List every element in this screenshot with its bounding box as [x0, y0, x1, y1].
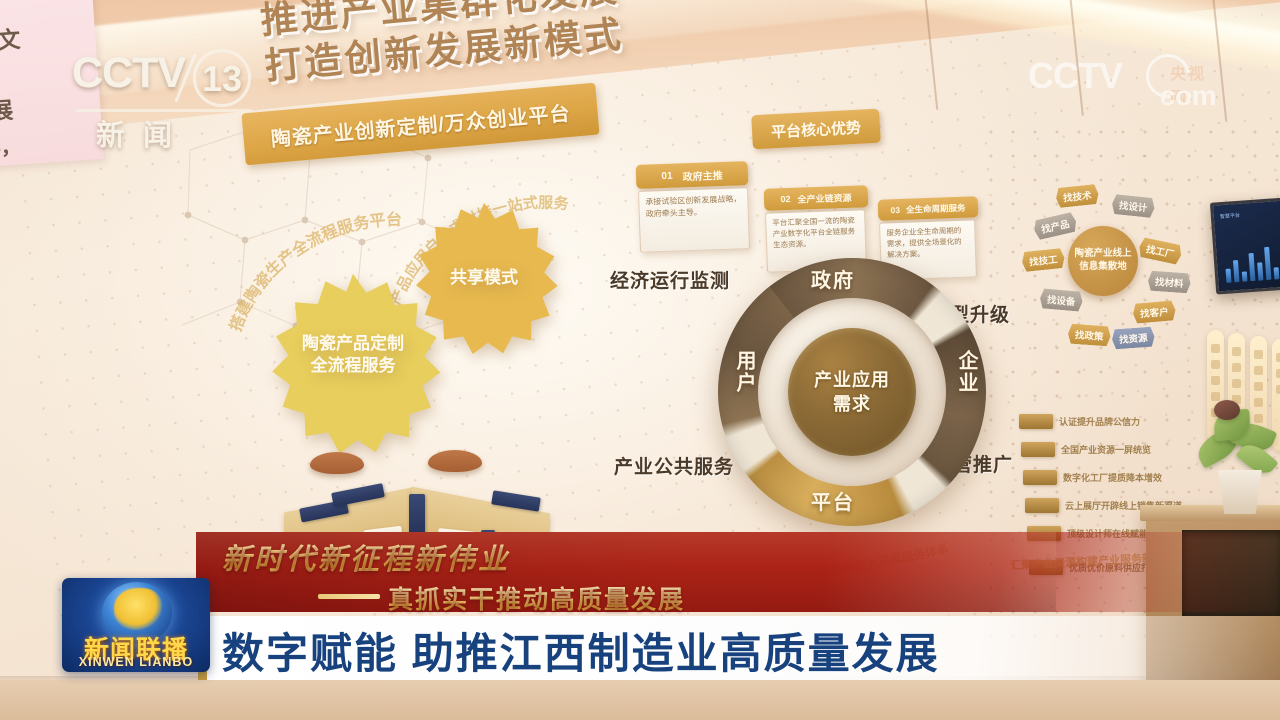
advantage-01-num: 01 — [661, 170, 673, 181]
series-title: 新时代新征程新伟业 — [222, 536, 510, 578]
tag-find-equipment: 找设备 — [1039, 288, 1083, 312]
benefit-row-1: 认证提升品牌公信力 — [1019, 414, 1140, 429]
series-subtitle: 真抓实干推动高质量发展 — [388, 580, 685, 616]
gear-2-label-line-1: 共享模式 — [450, 267, 518, 289]
gear-1-label-line-2: 全流程服务 — [311, 355, 396, 377]
tag-cluster-hub: 陶瓷产业线上 信息集散地 — [1068, 226, 1138, 296]
benefit-row-2: 全国产业资源一屏统览 — [1021, 442, 1151, 457]
advantage-pill-01: 01 政府主推 — [636, 161, 749, 189]
benefit-label-2: 全国产业资源一屏统览 — [1061, 443, 1151, 456]
advantage-pill-03: 03 全生命周期服务 — [878, 196, 979, 220]
ecosystem-ring-diagram: 产业应用 需求 政府 企业 平台 用户 — [718, 258, 986, 526]
tag-find-policy: 找政策 — [1067, 324, 1111, 347]
benefit-chip-1 — [1019, 414, 1053, 429]
advantage-pill-02: 02 全产业链资源 — [764, 185, 869, 211]
gear-1-label-line-1: 陶瓷产品定制 — [302, 333, 404, 355]
model-plaque-3 — [409, 494, 425, 534]
monitor-chart-bars — [1224, 245, 1280, 283]
tag-hub-line-2: 信息集散地 — [1074, 261, 1131, 274]
ring-segment-platform: 平台 — [811, 486, 855, 515]
ring-core-line-2: 需求 — [833, 392, 871, 416]
advantage-03-title: 全生命周期服务 — [906, 201, 966, 215]
gear-2-label: 共享模式 — [404, 198, 564, 358]
pink-panel-line-2: 号发展 — [0, 91, 14, 130]
tag-find-resource: 找资源 — [1111, 327, 1155, 350]
side-label-economic-monitoring: 经济运行监测 — [610, 266, 730, 293]
benefit-label-3: 数字化工厂提质降本增效 — [1063, 471, 1162, 484]
series-dash — [318, 594, 380, 599]
cctv-com-watermark: CCTV 央视网 com — [1028, 58, 1218, 110]
advantage-01-title: 政府主推 — [682, 166, 722, 182]
program-logo-en: XINWEN LIANBO — [62, 655, 210, 669]
benefit-label-1: 认证提升品牌公信力 — [1059, 415, 1140, 428]
news-headline: 数字赋能 助推江西制造业高质量发展 — [222, 620, 940, 681]
plant-flower — [1214, 400, 1240, 420]
advantages-header-pill: 平台核心优势 — [751, 109, 881, 150]
advantage-card-01: 承接试验区创新发展战略，政府牵头主导。 — [638, 187, 750, 253]
benefit-row-3: 数字化工厂提质降本增效 — [1023, 470, 1162, 485]
wall-monitor: 智慧平台 — [1210, 197, 1280, 294]
tag-find-material: 找材料 — [1147, 271, 1191, 294]
advantage-01-body: 承接试验区创新发展战略，政府牵头主导。 — [645, 194, 741, 218]
advantage-03-body: 服务企业全生命周期的需求，提供全场景化的解决方案。 — [886, 226, 962, 259]
benefit-chip-4 — [1025, 498, 1059, 513]
ring-segment-enterprise: 企业 — [952, 350, 981, 394]
desk-top-surface — [1140, 505, 1280, 521]
benefit-chip-3 — [1023, 470, 1057, 485]
side-label-public-service: 产业公共服务 — [614, 452, 734, 479]
watermark-com: com — [1160, 80, 1216, 112]
channel-logo-number: 13 — [202, 58, 242, 100]
model-cloud-2 — [428, 450, 482, 472]
channel-logo: CCTV 13 新闻 — [72, 52, 252, 130]
tag-hub-line-1: 陶瓷产业线上 — [1074, 248, 1131, 261]
floor — [0, 680, 1280, 720]
benefit-chip-2 — [1021, 442, 1055, 457]
monitor-caption: 智慧平台 — [1220, 212, 1240, 220]
advantage-03-num: 03 — [890, 204, 900, 214]
advantage-02-num: 02 — [780, 194, 790, 204]
pink-panel-line-1: 陶瓷文 — [0, 20, 21, 59]
ring-core-line-1: 产业应用 — [814, 368, 890, 392]
ring-segment-government: 政府 — [811, 264, 855, 293]
advantages-header-text: 平台核心优势 — [770, 116, 861, 142]
program-logo: 新闻联播 XINWEN LIANBO — [62, 578, 210, 672]
ring-core: 产业应用 需求 — [788, 328, 916, 456]
channel-logo-cn: 新闻 — [96, 112, 190, 154]
pink-panel-line-3: 程指导， — [0, 130, 22, 165]
advantage-02-body: 平台汇聚全国一流的陶瓷产业数字化平台全链服务生态资源。 — [772, 216, 855, 250]
ring-segment-user: 用户 — [730, 350, 759, 394]
advantage-02-title: 全产业链资源 — [797, 190, 851, 205]
tag-find-customer: 找客户 — [1132, 300, 1176, 324]
model-cloud-1 — [310, 452, 364, 474]
broadcast-screenshot: 陶瓷文 号发展 程指导， 推进产业集群化发展 打造创新发展新模式 陶瓷产业创新定… — [0, 0, 1280, 720]
